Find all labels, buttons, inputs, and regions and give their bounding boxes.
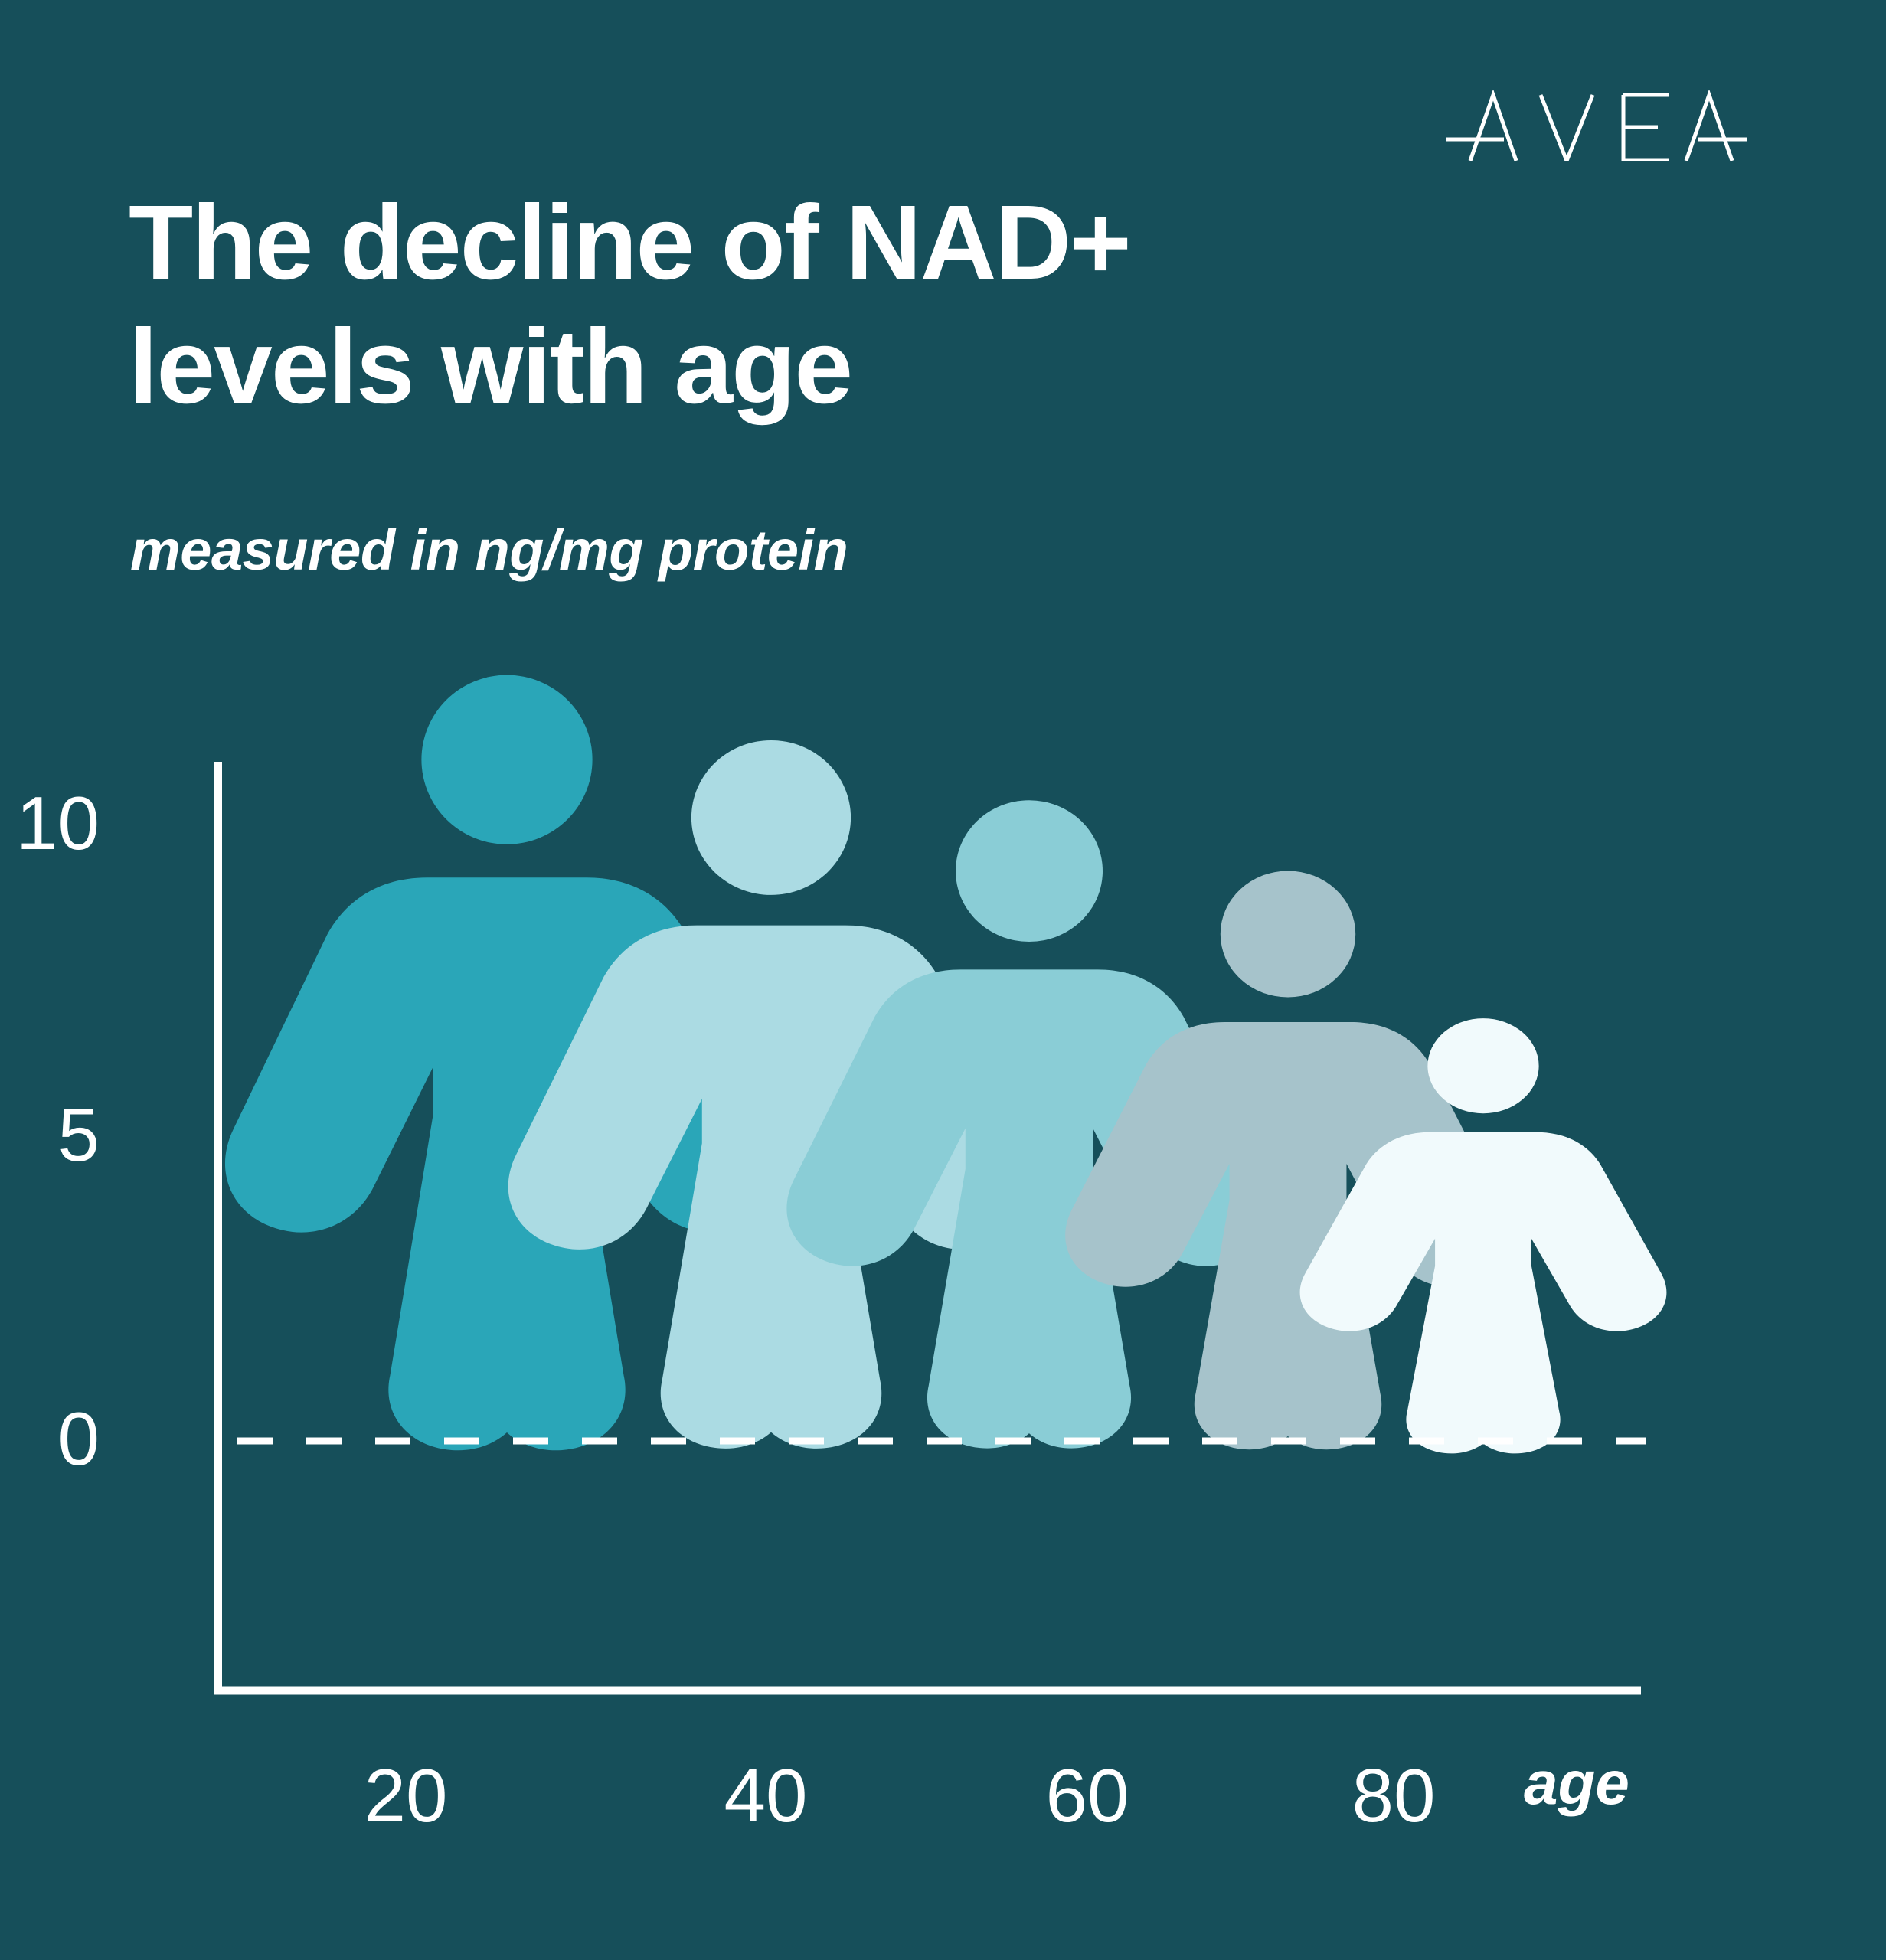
x-axis-title: age — [1524, 1748, 1629, 1818]
y-tick-0: 0 — [0, 1401, 100, 1476]
y-tick-10: 10 — [0, 786, 100, 861]
x-tick-40: 40 — [666, 1758, 865, 1833]
infographic-canvas: The decline of NAD+ levels with age meas… — [0, 0, 1886, 1960]
x-tick-80: 80 — [1294, 1758, 1493, 1833]
x-tick-60: 60 — [988, 1758, 1187, 1833]
y-tick-5: 5 — [0, 1097, 100, 1172]
nad-decline-chart: 10 5 0 20 40 60 80 age — [0, 0, 1886, 1960]
x-tick-20: 20 — [306, 1758, 505, 1833]
